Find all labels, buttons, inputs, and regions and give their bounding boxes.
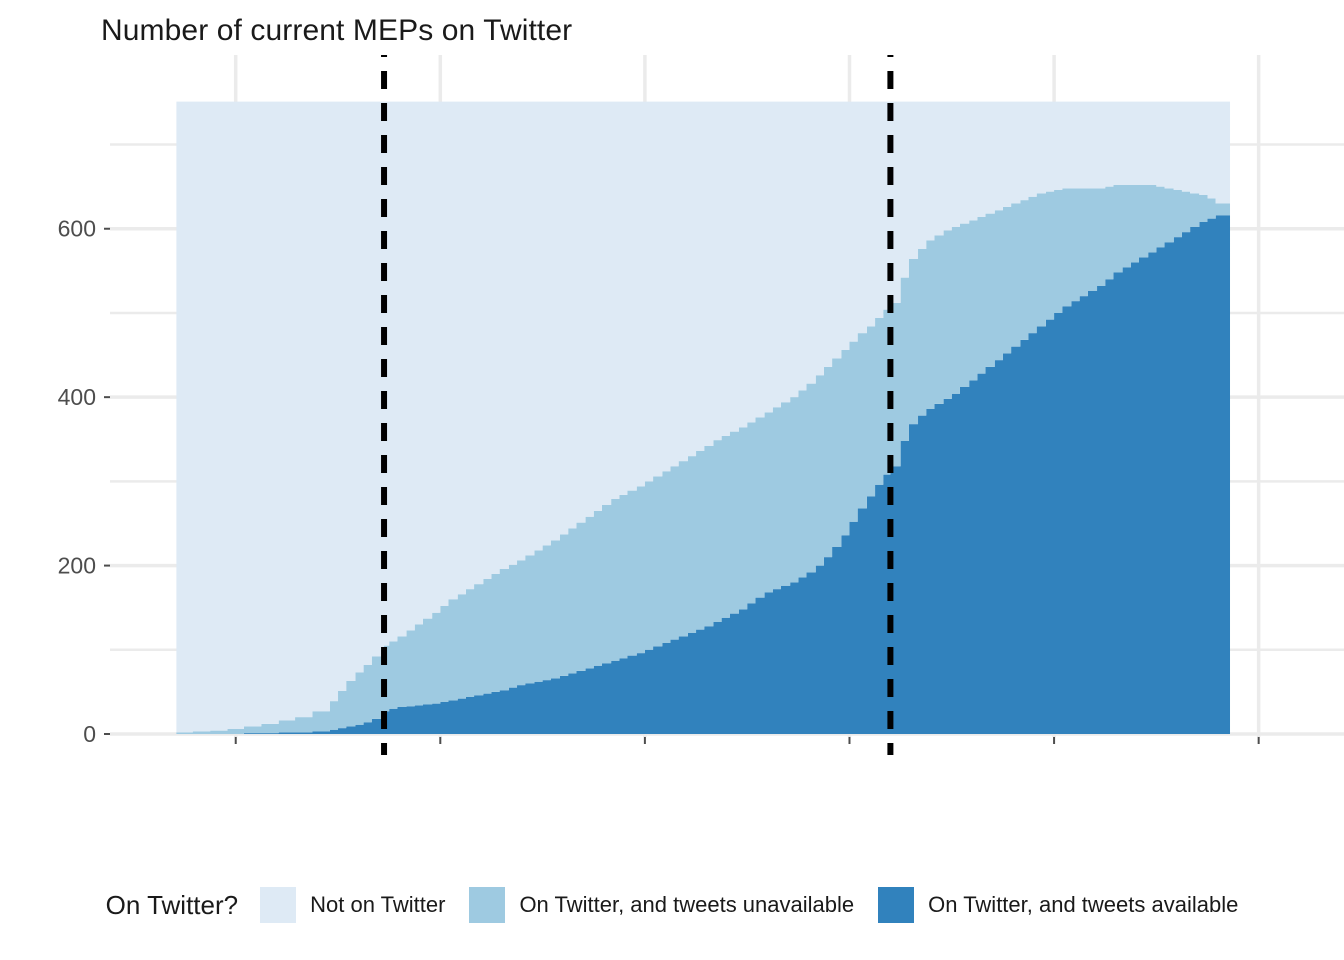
stacked-area-chart: 0200400600200820102012201420162018 [0, 55, 1344, 755]
legend-swatch-not-on-twitter [260, 887, 296, 923]
legend-item-not-on-twitter[interactable]: Not on Twitter [260, 887, 445, 923]
page-title: Number of current MEPs on Twitter [101, 14, 572, 48]
legend-item-tweets-unavailable[interactable]: On Twitter, and tweets unavailable [469, 887, 854, 923]
y-tick-label: 400 [58, 384, 96, 410]
chart-page: Number of current MEPs on Twitter 020040… [0, 0, 1344, 960]
plot-area: 0200400600200820102012201420162018 [0, 55, 1344, 755]
legend-label-tweets-unavailable: On Twitter, and tweets unavailable [519, 892, 854, 918]
legend-label-tweets-available: On Twitter, and tweets available [928, 892, 1238, 918]
legend-item-tweets-available[interactable]: On Twitter, and tweets available [878, 887, 1238, 923]
y-tick-label: 200 [58, 553, 96, 579]
legend-label-not-on-twitter: Not on Twitter [310, 892, 445, 918]
y-tick-label: 0 [83, 721, 96, 747]
y-tick-label: 600 [58, 216, 96, 242]
legend-swatch-tweets-available [878, 887, 914, 923]
chart-legend: On Twitter? Not on Twitter On Twitter, a… [0, 880, 1344, 930]
legend-title: On Twitter? [106, 890, 238, 921]
legend-swatch-tweets-unavailable [469, 887, 505, 923]
